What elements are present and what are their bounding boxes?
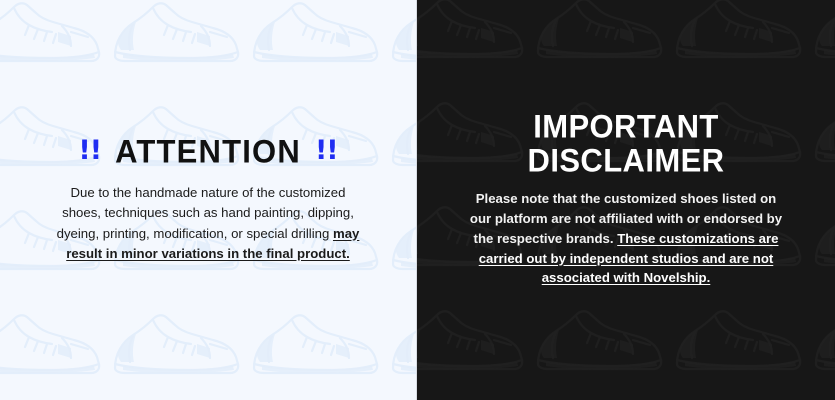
disclaimer-heading-line-1: IMPORTANT [528,110,725,143]
attention-heading: !! ATTENTION !! [78,136,337,167]
disclaimer-body-text: Please note that the customized shoes li… [466,189,786,288]
exclamation-icon-left: !! [78,137,101,164]
attention-body-normal: Due to the handmade nature of the custom… [57,185,354,241]
attention-body-text: Due to the handmade nature of the custom… [56,183,361,265]
disclaimer-heading: IMPORTANT DISCLAIMER [528,110,725,176]
disclaimer-panel: IMPORTANT DISCLAIMER Please note that th… [417,0,835,400]
attention-panel: !! ATTENTION !! Due to the handmade natu… [0,0,417,400]
customization-notice-banner: !! ATTENTION !! Due to the handmade natu… [0,0,835,400]
exclamation-icon-right: !! [315,137,338,164]
attention-heading-word: ATTENTION [115,135,301,168]
disclaimer-panel-content: IMPORTANT DISCLAIMER Please note that th… [417,0,835,400]
attention-panel-content: !! ATTENTION !! Due to the handmade natu… [0,0,416,400]
disclaimer-heading-line-2: DISCLAIMER [528,144,725,177]
